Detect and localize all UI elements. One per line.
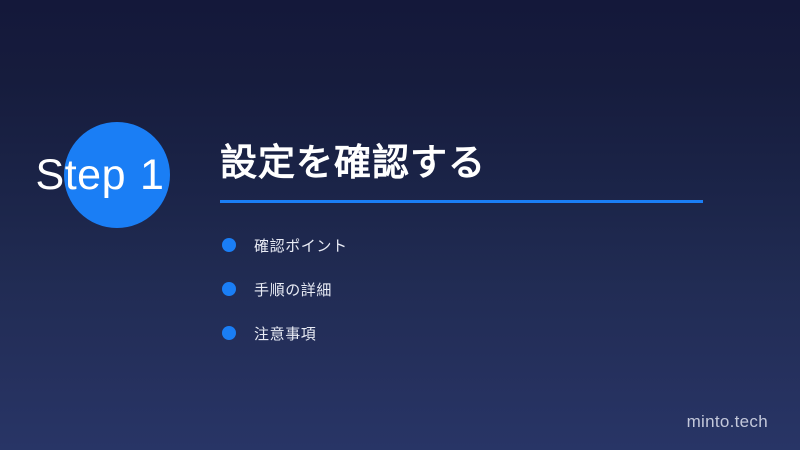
bullet-list: 確認ポイント 手順の詳細 注意事項 (220, 223, 740, 355)
list-item: 注意事項 (220, 311, 740, 355)
page-title: 設定を確認する (220, 140, 740, 186)
bullet-dot-icon (222, 282, 236, 296)
list-item: 手順の詳細 (220, 267, 740, 311)
slide-canvas: Step 1 設定を確認する 確認ポイント 手順の詳細 注意事項 minto.t… (0, 0, 800, 450)
list-item-label: 確認ポイント (254, 235, 348, 256)
step-number: 1 (140, 151, 164, 200)
list-item-label: 手順の詳細 (254, 279, 332, 300)
step-label: Step 1 (0, 110, 200, 240)
bullet-dot-icon (222, 326, 236, 340)
list-item-label: 注意事項 (254, 323, 316, 344)
step-word: Step (36, 151, 126, 200)
bullet-dot-icon (222, 238, 236, 252)
content-column: 設定を確認する 確認ポイント 手順の詳細 注意事項 (220, 140, 740, 355)
list-item: 確認ポイント (220, 223, 740, 267)
step-badge: Step 1 (0, 110, 210, 240)
watermark: minto.tech (687, 412, 768, 432)
title-divider (220, 200, 703, 203)
